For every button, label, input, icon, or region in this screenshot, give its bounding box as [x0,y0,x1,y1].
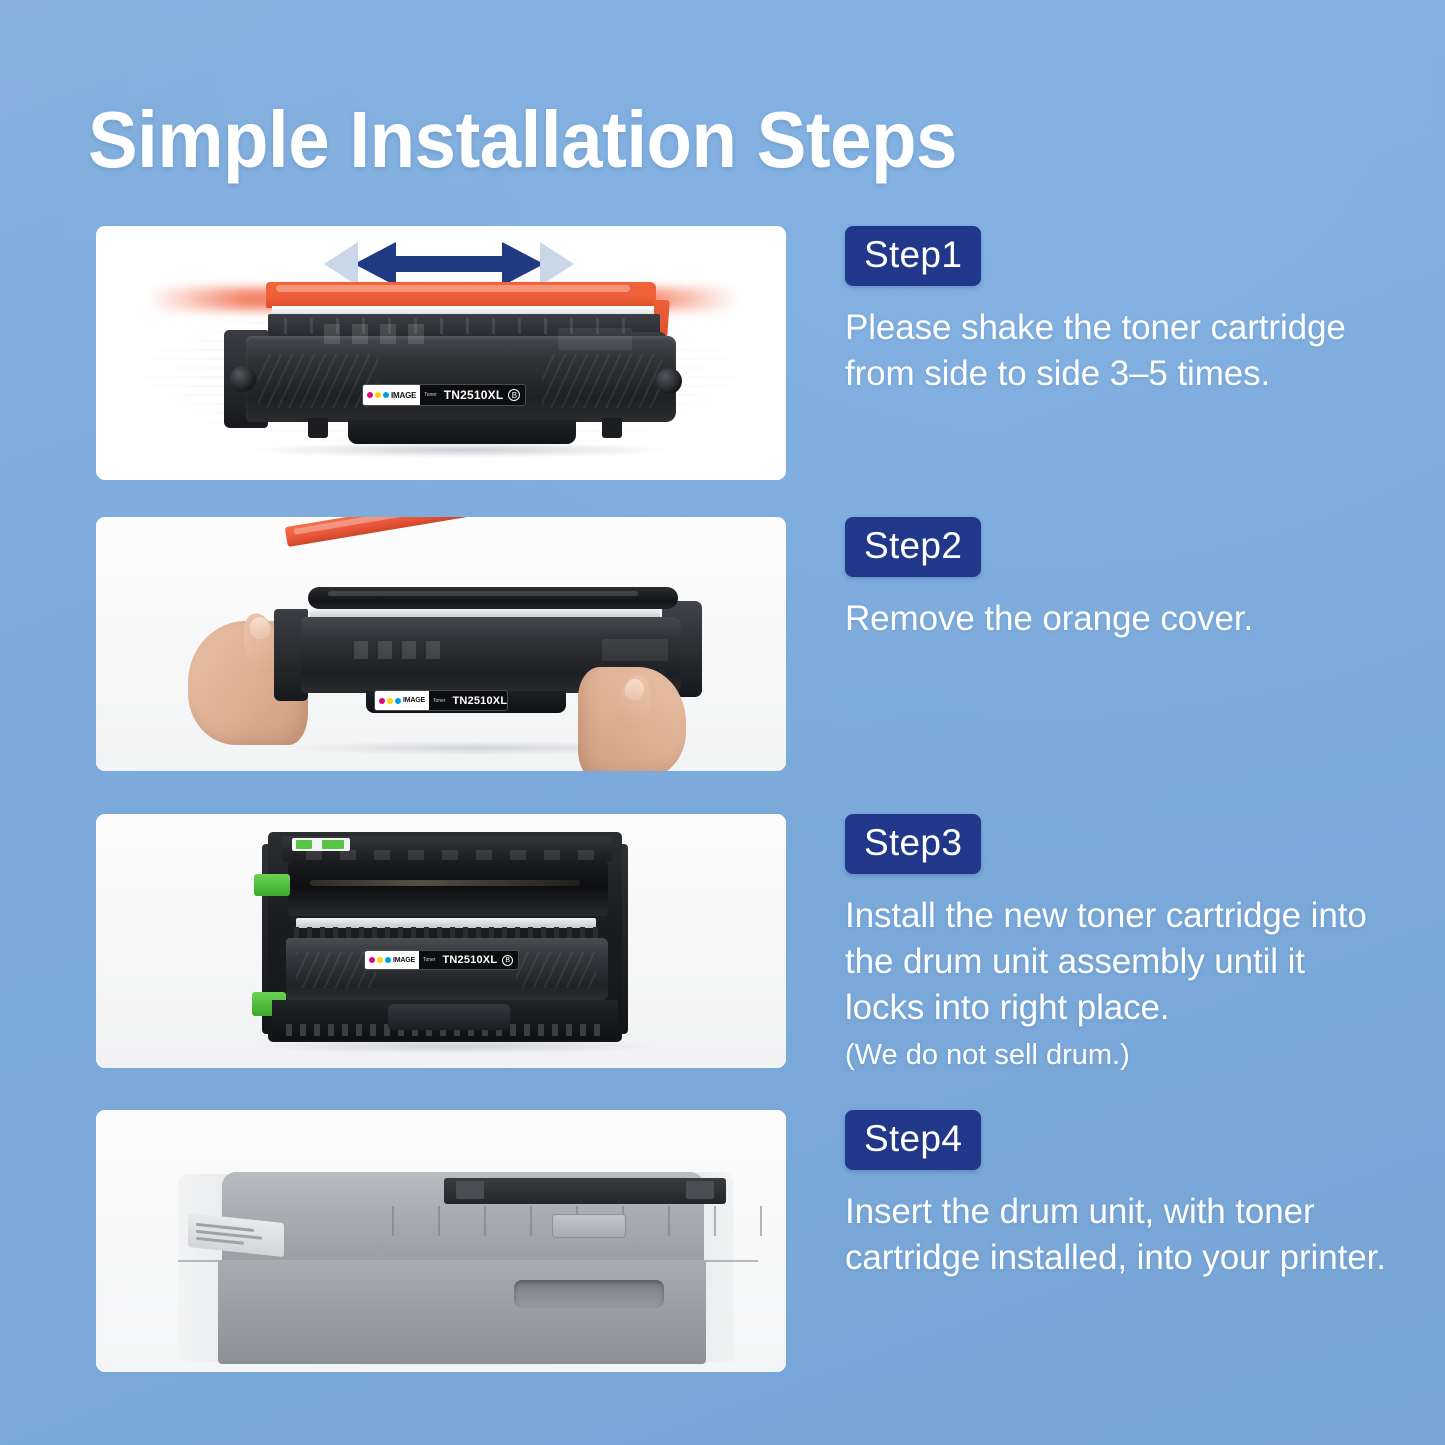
orange-protective-cover [266,282,656,308]
page-title: Simple Installation Steps [88,92,1018,188]
logo-text: IMAGE [403,697,425,704]
label-black-mark: B [508,389,520,401]
logo-dot-cyan-icon [385,957,391,963]
output-slot-clip-left [456,1181,484,1199]
step-row-3: IMAGE Toner TN2510XL B Step3 Install the… [0,814,1445,1068]
cartridge-side-panel [602,639,668,661]
logo-dot-yellow-icon [387,698,393,704]
product-label: IMAGE Toner TN2510XL B [364,950,519,970]
logo-text: IMAGE [393,957,415,964]
step-1-description: Please shake the toner cartridge from si… [845,305,1390,397]
cartridge-leg-left [308,418,328,438]
step-4-description: Insert the drum unit, with toner cartrid… [845,1189,1390,1281]
step-1-text-block: Step1 Please shake the toner cartridge f… [845,226,1390,397]
cartridge-grip-ridges-right [516,952,596,988]
drum-unit-assembly-photo: IMAGE Toner TN2510XL B [96,814,786,1068]
step-3-text-block: Step3 Install the new toner cartridge in… [845,814,1390,1075]
step-1-badge: Step1 [845,226,981,286]
infographic-page: Simple Installation Steps [0,0,1445,1445]
printer-front-panel [218,1260,706,1364]
output-slot-clip-right [686,1181,714,1199]
gpc-image-logo: IMAGE [375,691,429,710]
label-category-line1: Toner [429,698,450,704]
cartridge-leg-right [602,418,622,438]
drum-handle [388,1004,510,1030]
logo-dot-yellow-icon [375,392,381,398]
cartridge-drum-roller [308,587,678,609]
drum-cylinder [288,862,608,916]
step-4-text-block: Step4 Insert the drum unit, with toner c… [845,1110,1390,1281]
step-3-badge: Step3 [845,814,981,874]
label-category-line1: Toner [419,957,440,963]
label-category-line1: Toner [420,392,441,398]
cartridge-hub-right [656,368,682,394]
printer-output-slot [444,1178,726,1204]
logo-dot-cyan-icon [395,698,401,704]
drum-green-sticker-a [296,840,312,849]
cartridge-warning-icons [354,641,450,659]
cartridge-grip-ridges-left [258,354,378,408]
step-3-description: Install the new toner cartridge into the… [845,893,1390,1031]
printer-front-handle [514,1280,664,1308]
label-black-mark: B [502,955,513,966]
cartridge-body [246,336,676,422]
gpc-image-logo: IMAGE [363,385,420,405]
cartridge-warning-icons [324,324,436,344]
hands-removing-orange-cover-photo: IMAGE Toner TN2510XL [96,517,786,771]
printer-top-cover [222,1172,704,1262]
product-label: IMAGE Toner TN2510XL [374,690,508,711]
step-row-2: IMAGE Toner TN2510XL Step2 Remove the or… [0,517,1445,771]
drum-green-lever-upper [254,874,290,896]
product-label: IMAGE Toner TN2510XL B [362,384,526,406]
step-row-4: Step4 Insert the drum unit, with toner c… [0,1110,1445,1372]
logo-text: IMAGE [391,391,416,400]
cartridge-side-panel [558,328,632,350]
logo-dot-magenta-icon [369,957,375,963]
drum-green-sticker-b [322,840,344,849]
step-3-note: (We do not sell drum.) [845,1035,1390,1075]
cartridge-hub-left [230,366,256,392]
label-model-number: TN2510XL [449,695,507,707]
step-2-badge: Step2 [845,517,981,577]
gpc-image-logo: IMAGE [365,951,419,969]
logo-dot-magenta-icon [379,698,385,704]
step-4-badge: Step4 [845,1110,981,1170]
step-2-text-block: Step2 Remove the orange cover. [845,517,1390,642]
cartridge-shadow [246,442,676,458]
toner-cartridge-shake-photo: IMAGE Toner TN2510XL B [96,226,786,480]
logo-dot-yellow-icon [377,957,383,963]
ghost-arrow-right-icon [540,242,574,286]
logo-dot-cyan-icon [383,392,389,398]
step-2-description: Remove the orange cover. [845,596,1390,642]
step-row-1: IMAGE Toner TN2510XL B Step1 Please shak… [0,226,1445,480]
label-model-number: TN2510XL [441,388,504,402]
label-model-number: TN2510XL [439,954,497,966]
cartridge-grip-ridges-right [542,354,662,408]
printer-top-latch [552,1214,626,1238]
control-panel-line-3 [196,1237,244,1245]
logo-dot-magenta-icon [367,392,373,398]
cartridge-foot [348,420,576,444]
laser-printer-photo [96,1110,786,1372]
ghost-arrow-left-icon [324,242,358,286]
